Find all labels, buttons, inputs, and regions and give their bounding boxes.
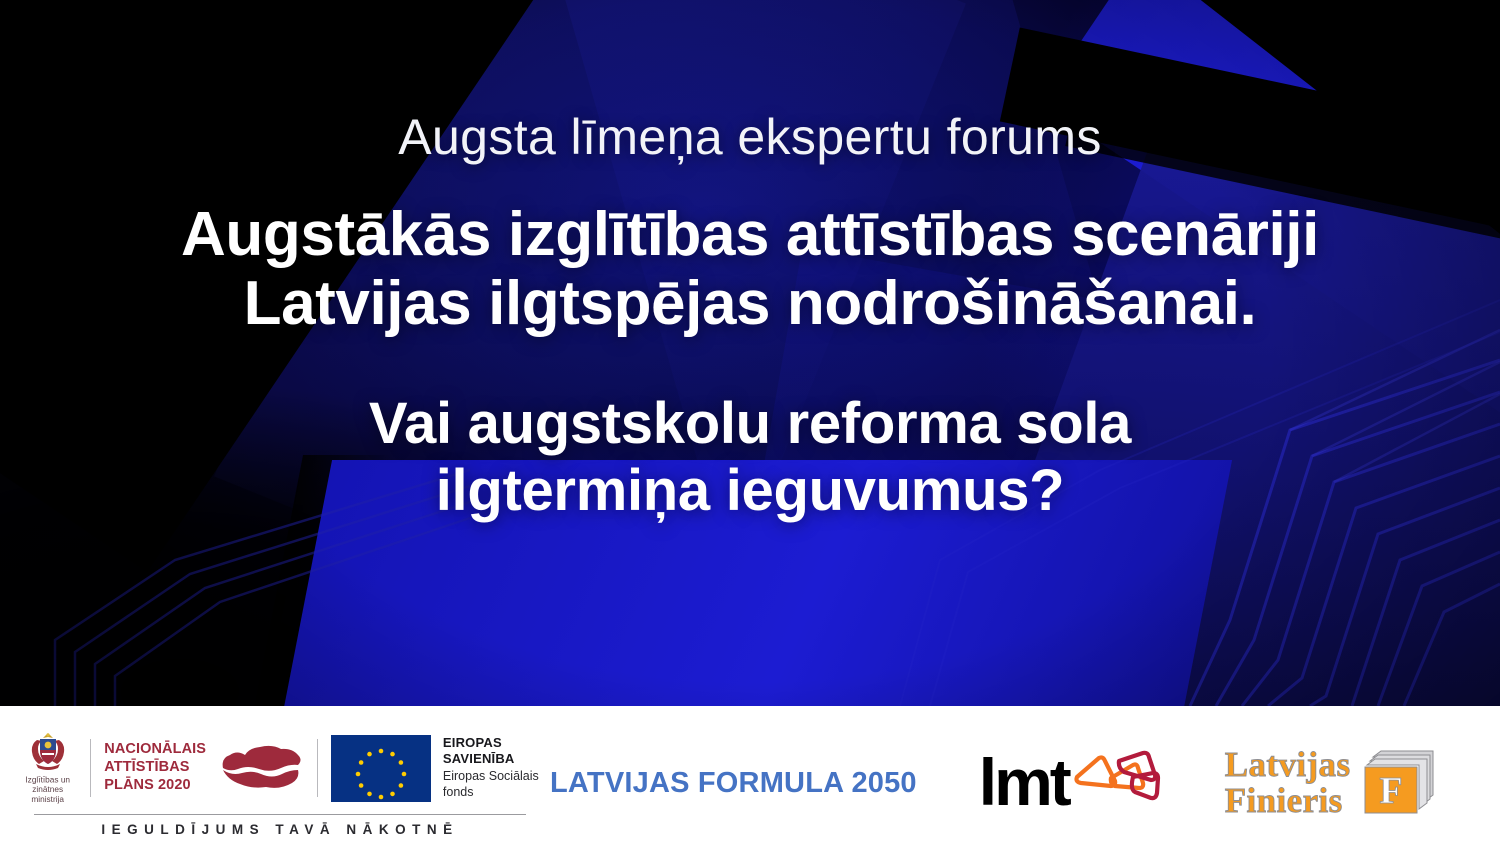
veneer-sheets-icon: F (1359, 747, 1437, 819)
ministry-caption: Izglītības un zinātnes ministrija (20, 776, 75, 805)
eu-stars-icon (331, 735, 431, 802)
lmt-wordmark: lmt (979, 753, 1069, 812)
divider-2 (317, 739, 318, 797)
eu-title: EIROPAS SAVIENĪBA (443, 735, 540, 766)
esf-funding-block: Izglītības un zinātnes ministrija NACION… (0, 706, 540, 860)
hero-banner: Augsta līmeņa ekspertu forums Augstākās … (0, 0, 1500, 706)
hero-text-block: Augsta līmeņa ekspertu forums Augstākās … (0, 0, 1500, 706)
eu-flag-icon (331, 735, 431, 802)
divider-1 (90, 739, 91, 797)
partner-logo-group: LATVIJAS FORMULA 2050 lmt Latvijas Finie… (540, 706, 1500, 860)
finieris-monogram: F (1380, 770, 1403, 812)
latvia-map-logo (218, 740, 304, 797)
latvijas-finieris-logo: Latvijas Finieris F (1225, 747, 1438, 819)
eu-text-block: EIROPAS SAVIENĪBA Eiropas Sociālais fond… (443, 735, 540, 800)
slide-headline: Augstākās izglītības attīstības scenārij… (181, 200, 1319, 339)
headline-line-2: Latvijas ilgtspējas nodrošināšanai. (181, 269, 1319, 338)
latvia-map-icon (218, 740, 304, 792)
lmt-logo: lmt (979, 747, 1163, 819)
nap-label: NACIONĀLAIS ATTĪSTĪBAS PLĀNS 2020 (104, 741, 206, 794)
european-union-logo: EIROPAS SAVIENĪBA Eiropas Sociālais fond… (331, 735, 540, 802)
ministry-logo: Izglītības un zinātnes ministrija (18, 730, 77, 805)
coat-of-arms-icon (25, 730, 71, 772)
slide-question: Vai augstskolu reforma sola ilgtermiņa i… (369, 391, 1131, 524)
lmt-loop-icon (1067, 747, 1163, 805)
question-line-1: Vai augstskolu reforma sola (369, 391, 1131, 458)
eu-subtitle: Eiropas Sociālais fonds (443, 769, 540, 800)
presentation-slide: Augsta līmeņa ekspertu forums Augstākās … (0, 0, 1500, 860)
footer-logo-bar: Izglītības un zinātnes ministrija NACION… (0, 706, 1500, 860)
latvijas-formula-2050-logo: LATVIJAS FORMULA 2050 (550, 767, 917, 800)
footer-divider-rule (34, 814, 526, 815)
latvijas-finieris-wordmark: Latvijas Finieris (1225, 747, 1351, 818)
investment-slogan: IEGULDĪJUMS TAVĀ NĀKOTNĒ (34, 822, 526, 837)
question-line-2: ilgtermiņa ieguvumus? (369, 458, 1131, 525)
headline-line-1: Augstākās izglītības attīstības scenārij… (181, 200, 1319, 269)
esf-logo-row: Izglītības un zinātnes ministrija NACION… (18, 729, 540, 807)
event-kicker: Augsta līmeņa ekspertu forums (398, 112, 1102, 162)
